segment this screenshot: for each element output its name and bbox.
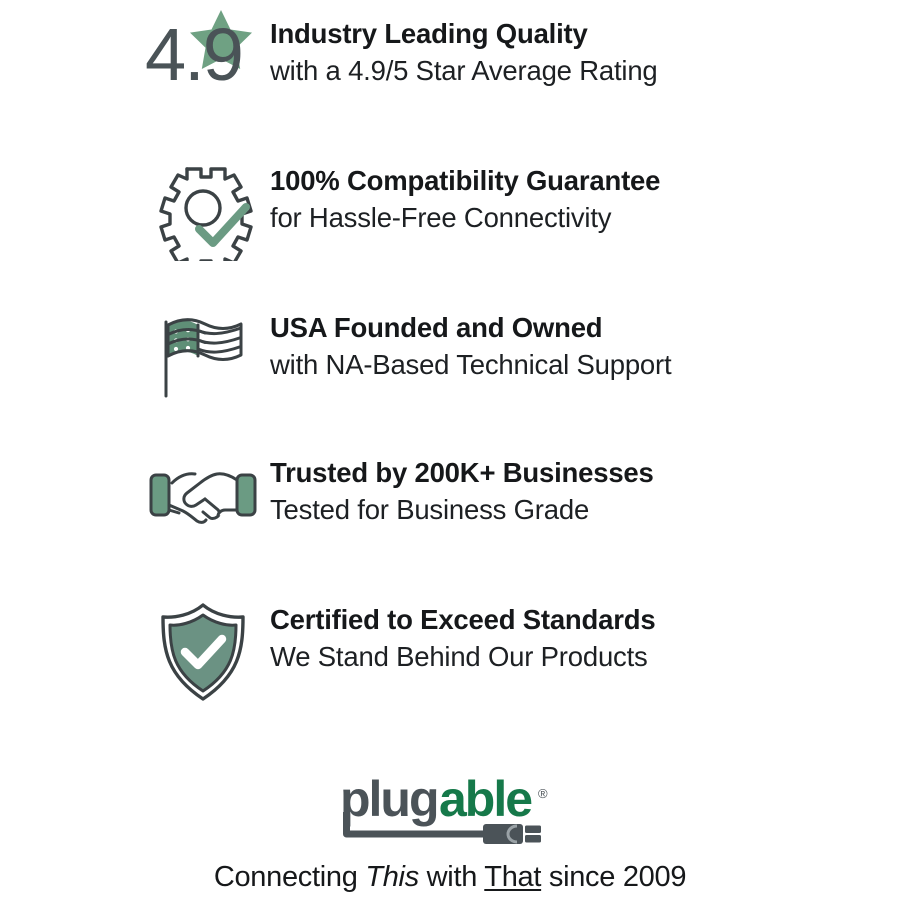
feature-text-block: 100% Compatibility Guarantee for Hassle-… xyxy=(266,161,660,236)
logo-trademark: ® xyxy=(538,786,548,801)
feature-text-block: Trusted by 200K+ Businesses Tested for B… xyxy=(266,453,654,528)
feature-subtitle: for Hassle-Free Connectivity xyxy=(270,200,660,236)
gear-check-icon xyxy=(140,161,266,261)
feature-title: Industry Leading Quality xyxy=(270,16,658,51)
rating-value: 4.9 xyxy=(145,18,242,92)
tagline: Connecting This with That since 2009 xyxy=(0,861,900,894)
shield-check-icon xyxy=(140,600,266,704)
feature-title: Certified to Exceed Standards xyxy=(270,602,655,637)
handshake-icon-glyph xyxy=(145,453,261,533)
plugable-logo-icon: plug able ® xyxy=(335,772,565,844)
feature-row: 4.9 Industry Leading Quality with a 4.9/… xyxy=(140,14,900,110)
tagline-italic-word: This xyxy=(365,861,419,893)
feature-text-block: Industry Leading Quality with a 4.9/5 St… xyxy=(266,14,658,89)
feature-row: USA Founded and Owned with NA-Based Tech… xyxy=(140,308,900,408)
marketing-feature-panel: 4.9 Industry Leading Quality with a 4.9/… xyxy=(0,0,900,900)
feature-subtitle: Tested for Business Grade xyxy=(270,492,654,528)
usa-flag-icon xyxy=(140,308,266,408)
logo-text-able: able xyxy=(439,772,532,827)
feature-title: Trusted by 200K+ Businesses xyxy=(270,455,654,490)
rating-star-icon: 4.9 xyxy=(140,14,266,110)
logo-text-plug: plug xyxy=(340,772,438,827)
feature-subtitle: with NA-Based Technical Support xyxy=(270,347,671,383)
feature-row: 100% Compatibility Guarantee for Hassle-… xyxy=(140,161,900,261)
tagline-part-1: Connecting xyxy=(214,861,365,893)
tagline-part-2: with xyxy=(419,861,484,893)
feature-row: Trusted by 200K+ Businesses Tested for B… xyxy=(140,453,900,533)
flag-icon xyxy=(151,308,255,408)
tagline-underlined-word: That xyxy=(484,861,541,893)
feature-subtitle: We Stand Behind Our Products xyxy=(270,639,655,675)
shield-icon xyxy=(153,600,253,704)
tagline-part-3: since 2009 xyxy=(541,861,686,893)
feature-row: Certified to Exceed Standards We Stand B… xyxy=(140,600,900,704)
feature-subtitle: with a 4.9/5 Star Average Rating xyxy=(270,53,658,89)
feature-title: 100% Compatibility Guarantee xyxy=(270,163,660,198)
handshake-icon xyxy=(140,453,266,533)
feature-title: USA Founded and Owned xyxy=(270,310,671,345)
gear-icon xyxy=(151,161,255,261)
feature-text-block: Certified to Exceed Standards We Stand B… xyxy=(266,600,655,675)
feature-text-block: USA Founded and Owned with NA-Based Tech… xyxy=(266,308,671,383)
brand-logo: plug able ® xyxy=(0,772,900,849)
